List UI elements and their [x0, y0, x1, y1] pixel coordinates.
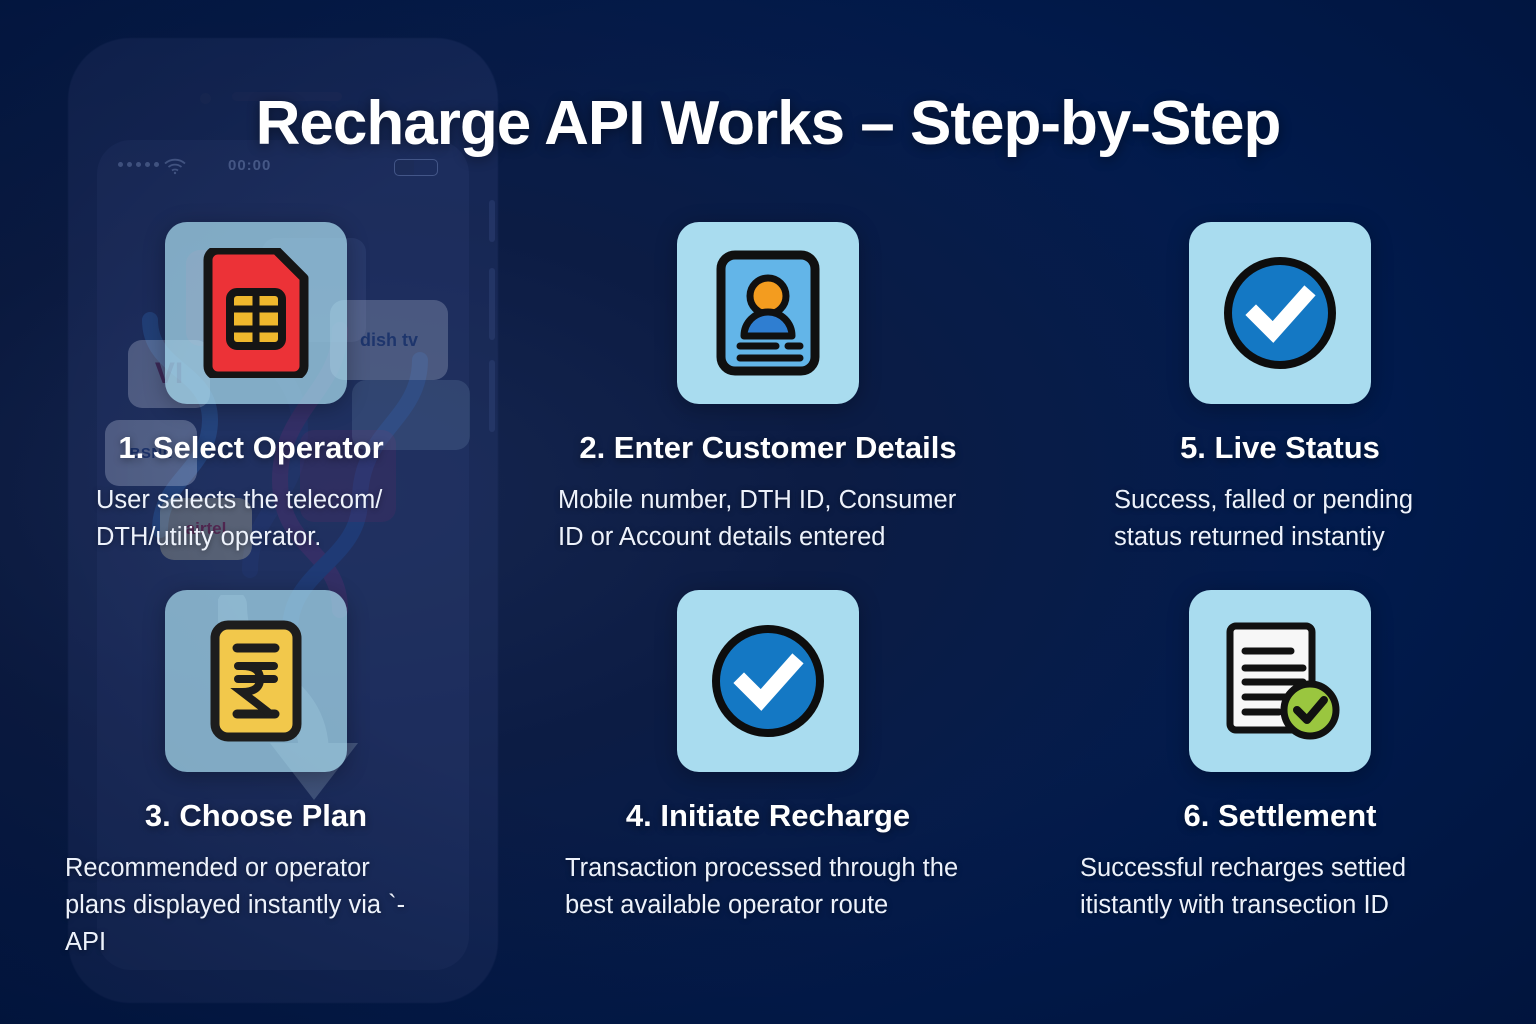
step-5-description: Success, falled or pending status return…	[1114, 482, 1434, 556]
step-card-1[interactable]: 1. Select Operator User selects the tele…	[0, 222, 512, 556]
step-5-title: 5. Live Status	[1180, 430, 1380, 466]
step-card-6[interactable]: 6. Settlement Successful recharges setti…	[1024, 590, 1536, 961]
steps-row-top: 1. Select Operator User selects the tele…	[0, 222, 1536, 556]
step-5-icon-tile	[1189, 222, 1371, 404]
step-6-icon-tile	[1189, 590, 1371, 772]
id-card-icon	[714, 248, 822, 378]
check-circle-icon	[707, 620, 829, 742]
step-card-5[interactable]: 5. Live Status Success, falled or pendin…	[1024, 222, 1536, 556]
rupee-note-icon	[208, 618, 304, 744]
step-1-icon-tile	[165, 222, 347, 404]
step-card-3[interactable]: 3. Choose Plan Recommended or operator p…	[0, 590, 512, 961]
step-3-description: Recommended or operator plans displayed …	[65, 850, 425, 961]
step-card-4[interactable]: 4. Initiate Recharge Transaction process…	[512, 590, 1024, 961]
sim-card-icon	[200, 248, 312, 378]
step-4-icon-tile	[677, 590, 859, 772]
step-2-title: 2. Enter Customer Details	[579, 430, 956, 466]
step-6-description: Successful recharges settied itistantly …	[1080, 850, 1480, 924]
infographic-content: Recharge API Works – Step-by-Step 1. Sel…	[0, 0, 1536, 1024]
step-1-description: User selects the telecom/ DTH/utility op…	[96, 482, 416, 556]
step-1-title: 1. Select Operator	[118, 430, 383, 466]
check-circle-icon	[1219, 252, 1341, 374]
step-4-description: Transaction processed through the best a…	[565, 850, 965, 924]
page-title: Recharge API Works – Step-by-Step	[0, 88, 1536, 159]
step-card-2[interactable]: 2. Enter Customer Details Mobile number,…	[512, 222, 1024, 556]
step-6-title: 6. Settlement	[1184, 798, 1377, 834]
step-4-title: 4. Initiate Recharge	[626, 798, 910, 834]
step-2-description: Mobile number, DTH ID, Consumer ID or Ac…	[558, 482, 978, 556]
steps-grid: 1. Select Operator User selects the tele…	[0, 222, 1536, 961]
step-3-icon-tile	[165, 590, 347, 772]
steps-row-bottom: 3. Choose Plan Recommended or operator p…	[0, 590, 1536, 961]
document-check-icon	[1217, 618, 1343, 744]
step-3-title: 3. Choose Plan	[145, 798, 367, 834]
step-2-icon-tile	[677, 222, 859, 404]
